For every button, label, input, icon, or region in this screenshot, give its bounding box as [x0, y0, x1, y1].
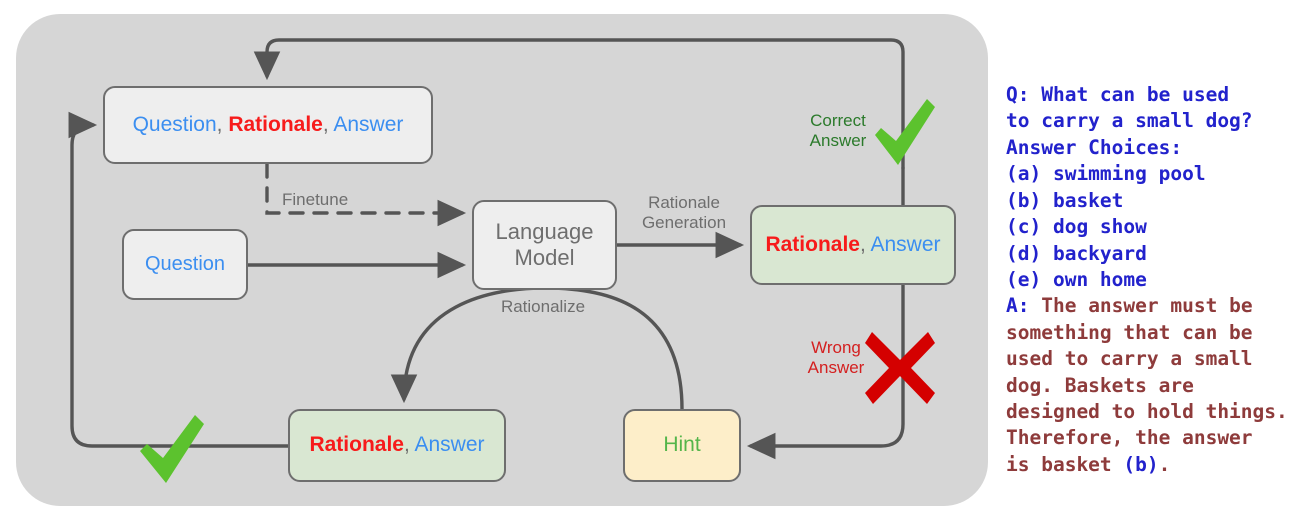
node-language-model[interactable]: Language Model: [472, 200, 617, 290]
node-question-rationale-answer[interactable]: Question, Rationale, Answer: [103, 86, 433, 164]
node-label: Question, Rationale, Answer: [133, 113, 404, 138]
edge-label-rationalize: Rationalize: [478, 297, 608, 317]
edge-label-finetune: Finetune: [282, 190, 382, 210]
example-answer-choice: (b): [1123, 453, 1158, 476]
example-answer-prefix: A:: [1006, 294, 1041, 317]
node-label: Question: [145, 253, 225, 277]
green-check-icon: [871, 95, 937, 173]
node-rationale-answer-generated[interactable]: Rationale, Answer: [750, 205, 956, 285]
example-answer-period: .: [1159, 453, 1171, 476]
edge-label-rationale-generation: Rationale Generation: [628, 193, 740, 232]
node-label: Rationale, Answer: [765, 233, 940, 258]
example-answer-body: The answer must be something that can be…: [1006, 294, 1288, 476]
example-question: Q: What can be used to carry a small dog…: [1006, 83, 1253, 291]
node-label: Language Model: [496, 219, 594, 271]
example-qa-text: Q: What can be used to carry a small dog…: [1006, 82, 1302, 478]
green-check-icon: [138, 413, 206, 489]
node-rationale-answer-rationalized[interactable]: Rationale, Answer: [288, 409, 506, 482]
diagram-root: Question, Rationale, Answer Question Lan…: [0, 0, 1302, 521]
red-cross-icon: [863, 330, 937, 406]
node-label: Rationale, Answer: [309, 433, 484, 458]
node-label: Hint: [663, 433, 700, 458]
node-question[interactable]: Question: [122, 229, 248, 300]
node-hint[interactable]: Hint: [623, 409, 741, 482]
